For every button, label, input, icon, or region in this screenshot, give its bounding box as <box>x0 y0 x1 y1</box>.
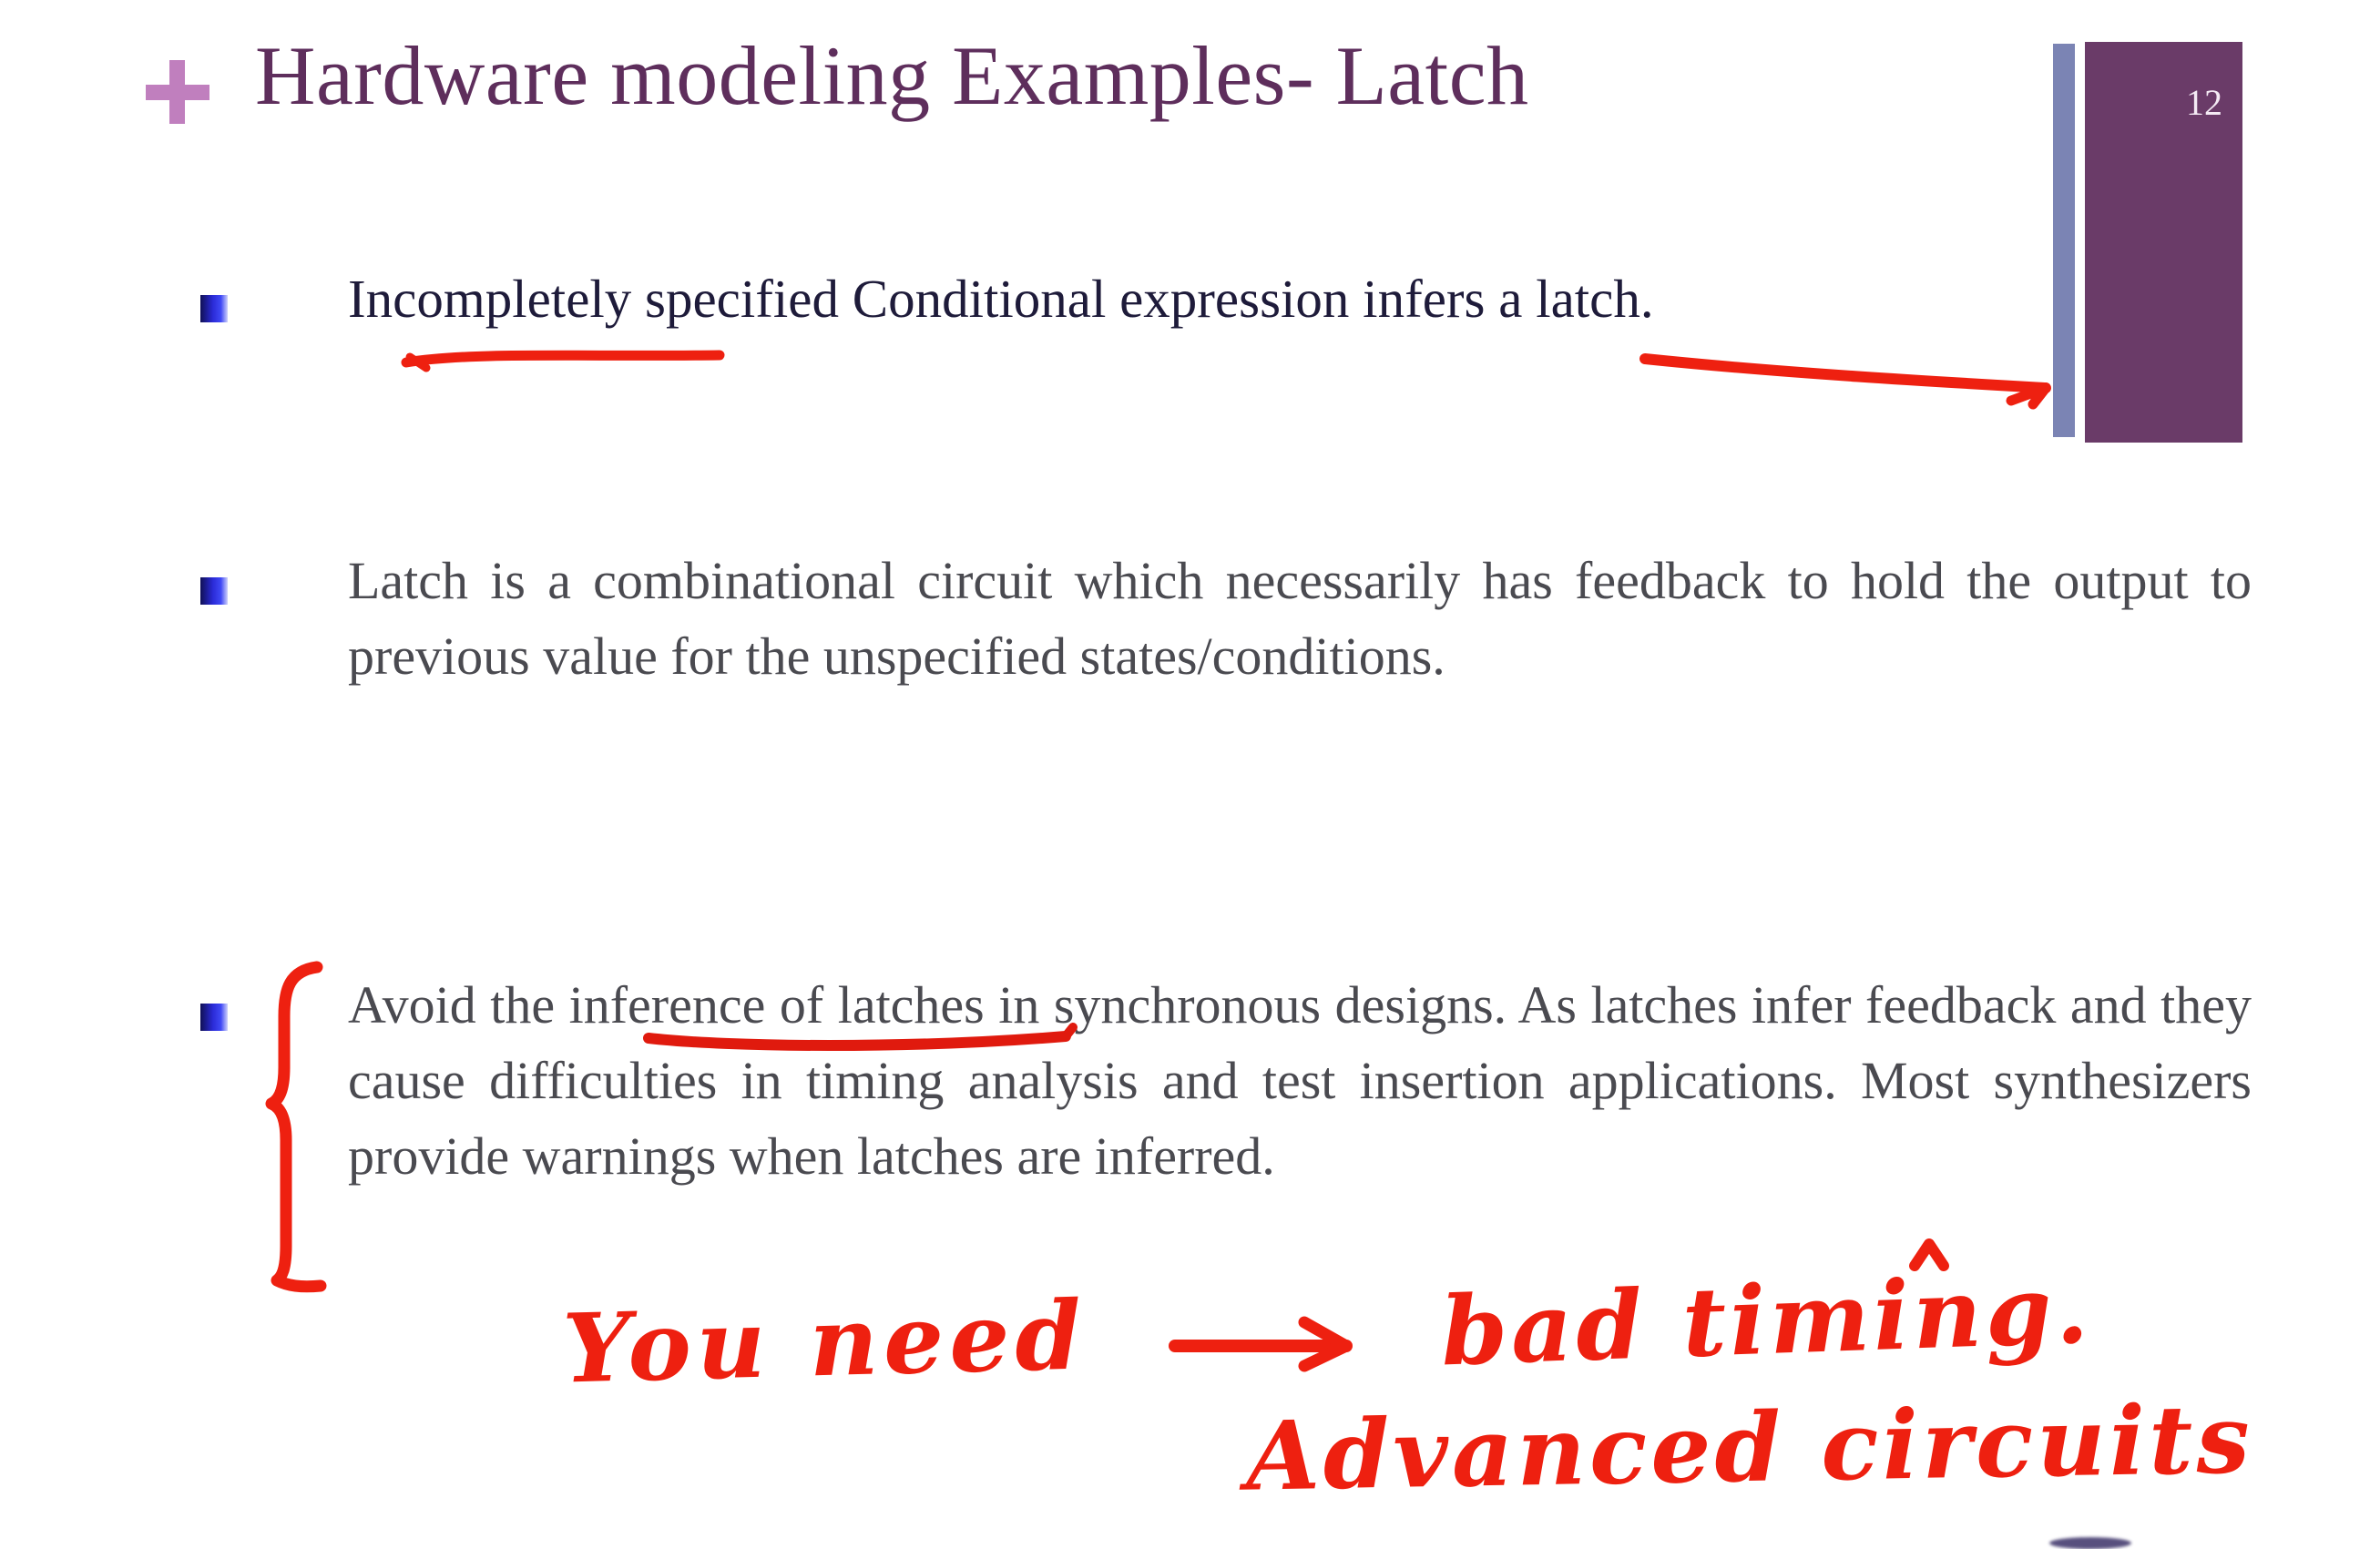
blue-square-bullet-icon <box>200 577 228 605</box>
handwritten-note-bad-timing: bad timing. <box>1439 1253 2094 1388</box>
handwritten-note-advanced-circuits: Advanced circuits <box>1245 1382 2254 1512</box>
plus-icon <box>146 60 209 124</box>
blue-square-bullet-icon <box>200 295 228 322</box>
plus-icon-vertical-bar <box>169 60 185 124</box>
bullet-text: Incompletely specified Conditional expre… <box>348 262 2106 335</box>
bullet-text: Latch is a combinational circuit which n… <box>348 543 2252 694</box>
purple-accent-block: 12 <box>2085 42 2242 443</box>
title-row: Hardware modeling Examples- Latch <box>0 25 2058 153</box>
handwritten-note-you-need: You need <box>561 1279 1088 1404</box>
underline-incompletely-specified-tail <box>410 357 426 368</box>
arrow-underline-infers-a-latch-head <box>2011 388 2046 404</box>
slate-accent-bar <box>2053 44 2075 437</box>
bottom-edge-mark <box>2049 1537 2131 1549</box>
arrow-you-need-to-bad-timing-head <box>1304 1322 1346 1366</box>
underline-incompletely-specified-mark <box>406 355 720 362</box>
page-title: Hardware modeling Examples- Latch <box>255 25 1529 126</box>
slide-canvas: Hardware modeling Examples- Latch 12 Inc… <box>0 0 2380 1549</box>
curly-brace-bullet-3-mark <box>271 967 321 1287</box>
arrow-underline-infers-a-latch-mark <box>1645 359 2046 388</box>
bullet-text: Avoid the inference of latches in synchr… <box>348 967 2252 1194</box>
blue-square-bullet-icon <box>200 1004 228 1031</box>
page-number: 12 <box>2186 82 2222 124</box>
